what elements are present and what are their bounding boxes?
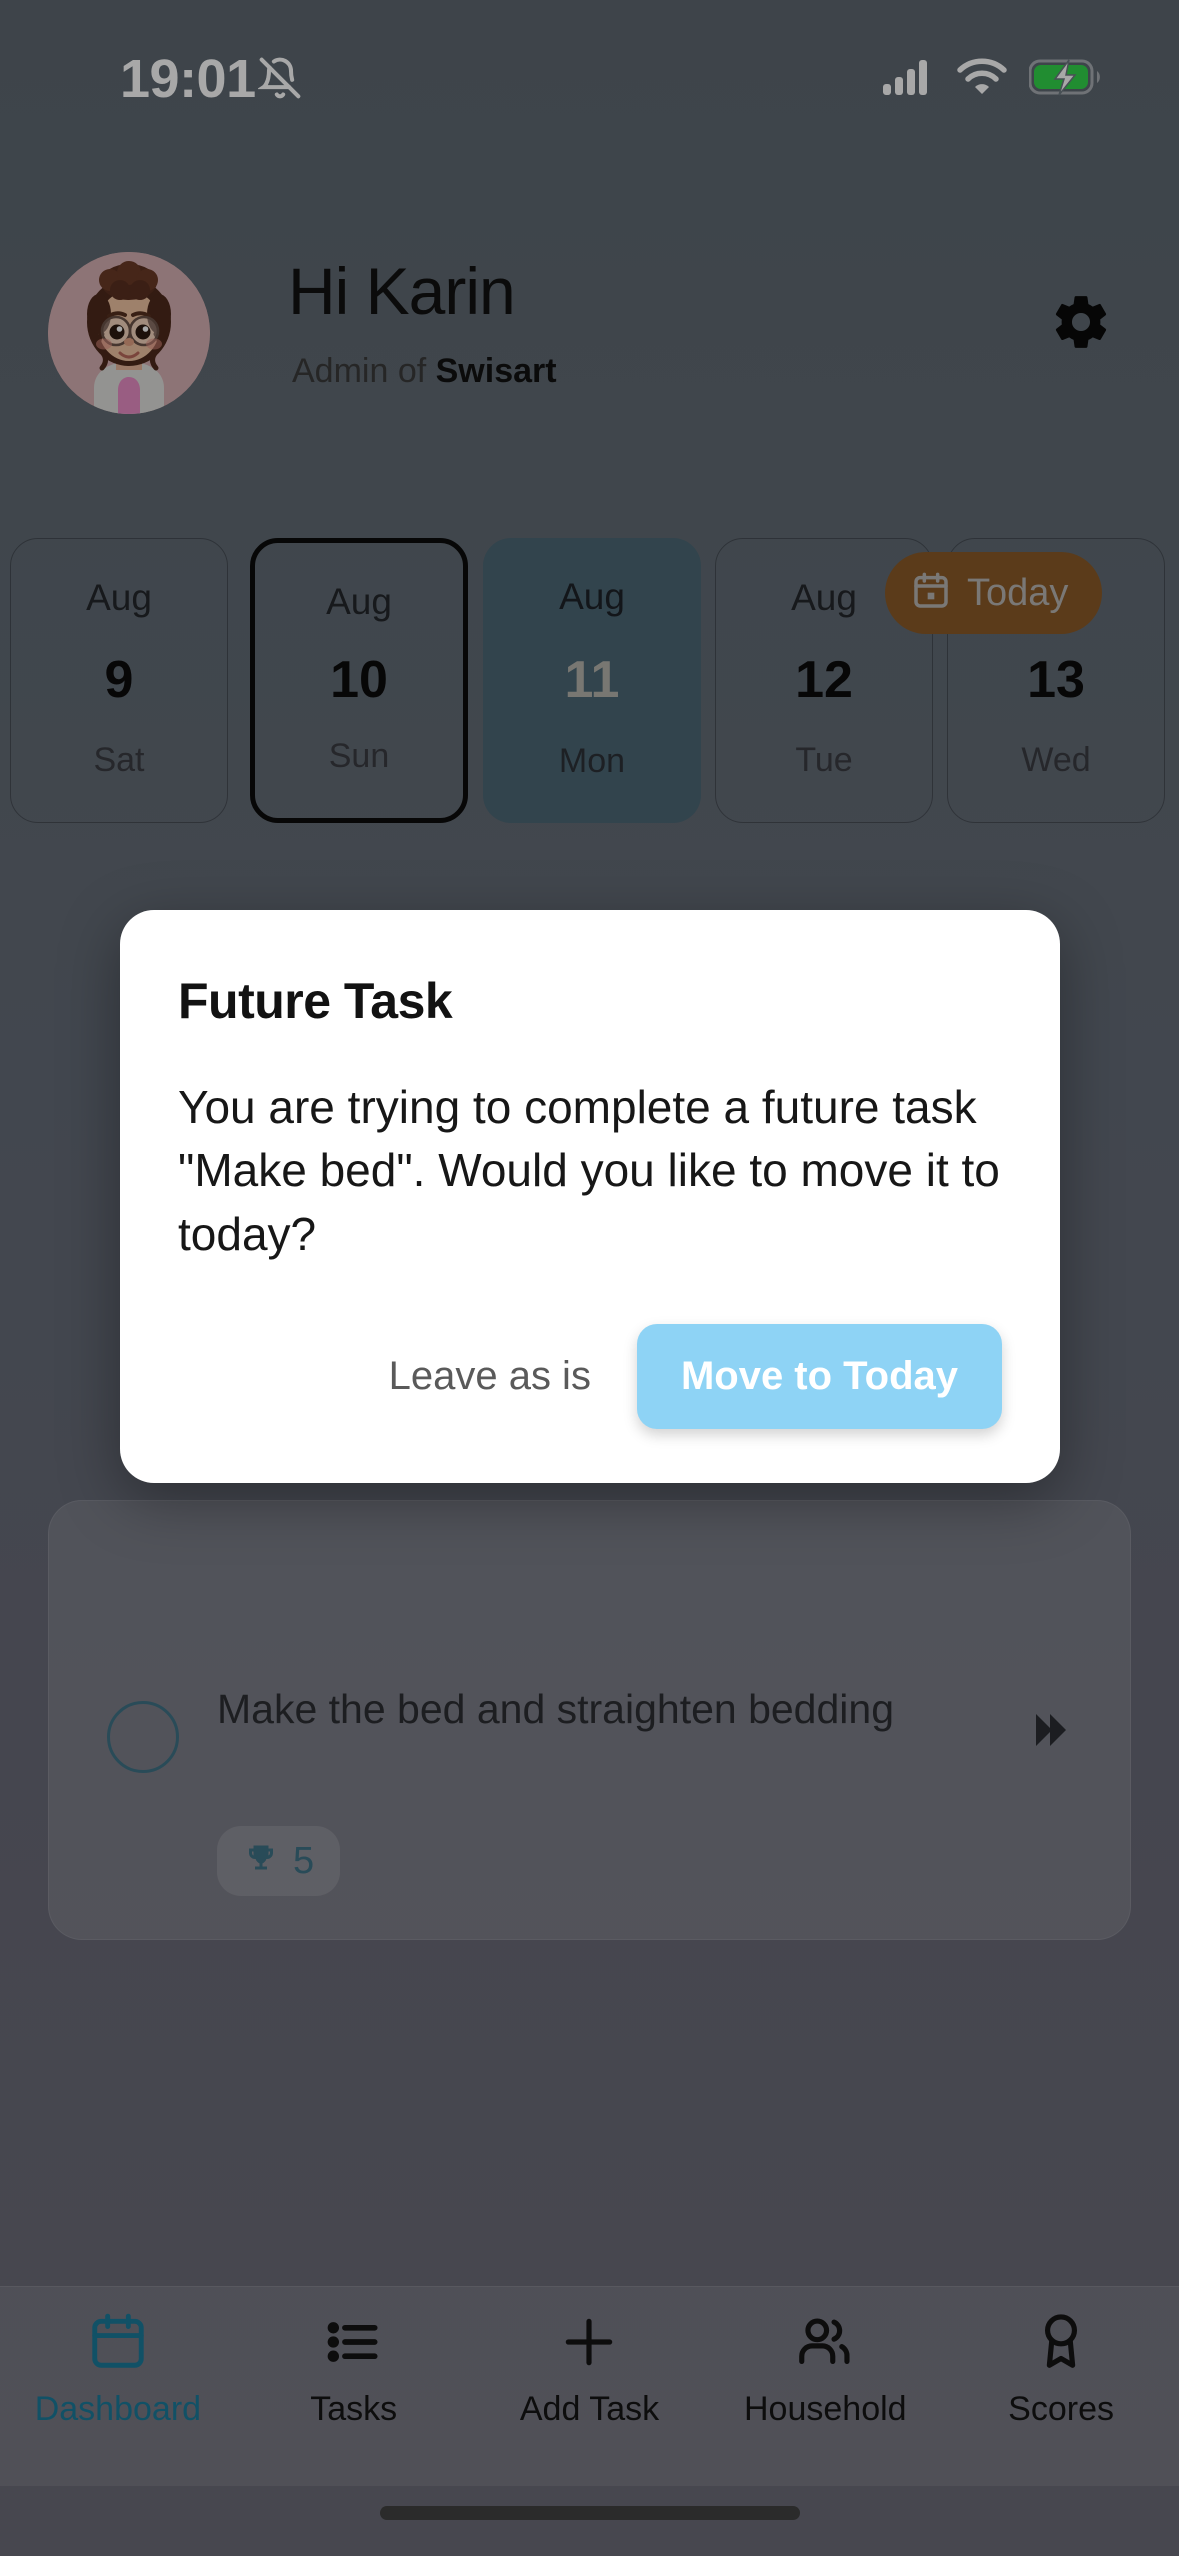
dialog-message: You are trying to complete a future task… bbox=[178, 1076, 1002, 1266]
move-to-today-button[interactable]: Move to Today bbox=[637, 1324, 1002, 1429]
future-task-dialog: Future Task You are trying to complete a… bbox=[120, 910, 1060, 1483]
dialog-actions: Leave as is Move to Today bbox=[178, 1324, 1002, 1429]
dialog-title: Future Task bbox=[178, 972, 1002, 1030]
home-indicator bbox=[380, 2506, 800, 2520]
leave-as-is-button[interactable]: Leave as is bbox=[379, 1336, 601, 1417]
